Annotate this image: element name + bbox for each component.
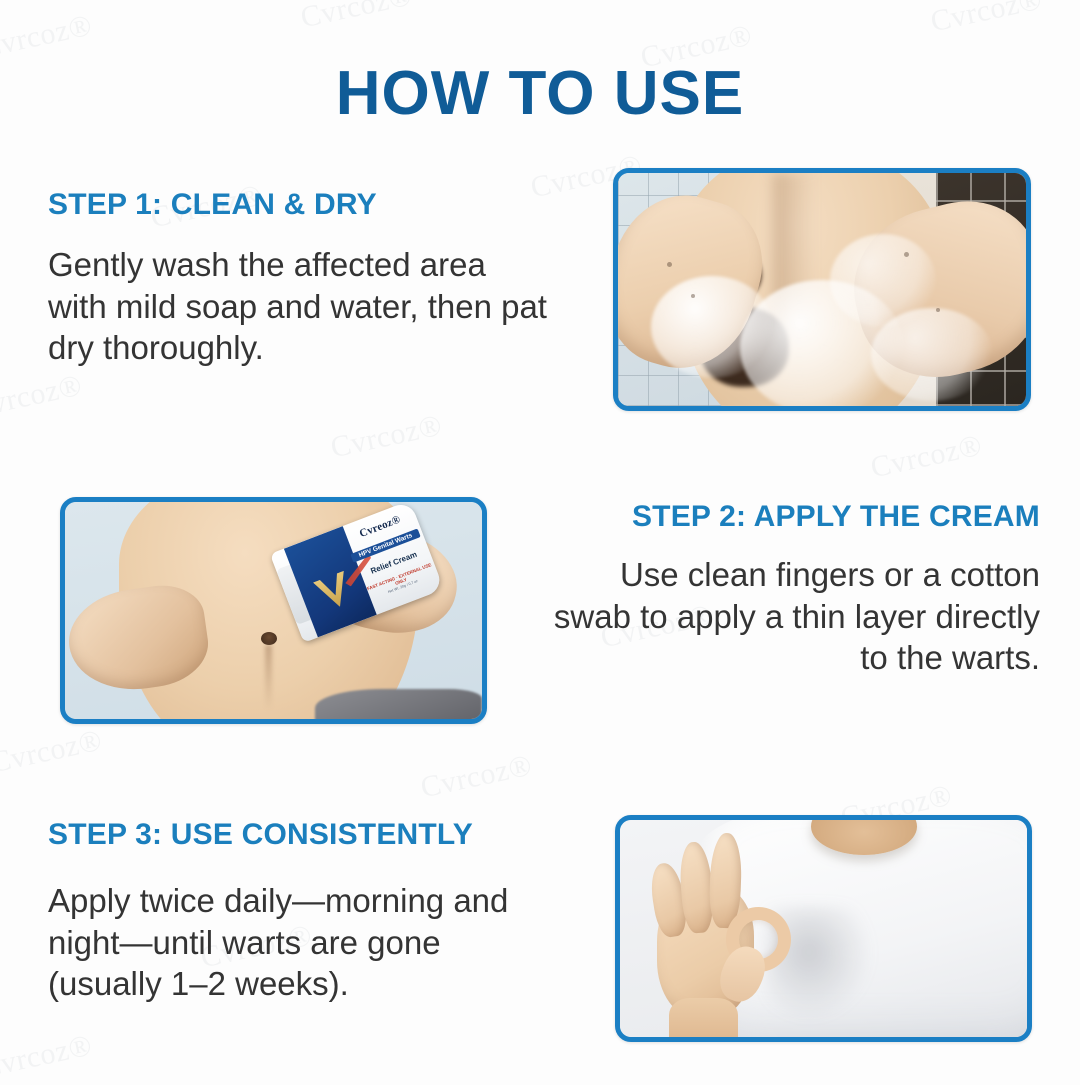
waistband: [315, 689, 482, 724]
step-2-body: Use clean fingers or a cotton swab to ap…: [540, 554, 1040, 679]
watermark: Cvrcoz®: [328, 409, 446, 466]
shower-washing-scene: [618, 173, 1026, 406]
step-2-image: Cvreoz® HPV Genital Warts Relief Cream F…: [60, 497, 487, 724]
watermark: Cvrcoz®: [298, 0, 416, 35]
step-1-heading: STEP 1: CLEAN & DRY: [48, 188, 548, 222]
step-3-text-block: STEP 3: USE CONSISTENTLY Apply twice dai…: [48, 818, 558, 1005]
wrist: [669, 998, 738, 1042]
watermark: Cvrcoz®: [0, 9, 95, 66]
step-3-heading: STEP 3: USE CONSISTENTLY: [48, 818, 558, 852]
step-1-text-block: STEP 1: CLEAN & DRY Gently wash the affe…: [48, 188, 548, 369]
step-1-body: Gently wash the affected area with mild …: [48, 244, 548, 369]
watermark: Cvrcoz®: [928, 0, 1046, 39]
step-2-heading: STEP 2: APPLY THE CREAM: [540, 500, 1040, 534]
abdomen-line: [265, 645, 272, 710]
soap-suds: [651, 276, 773, 379]
step-1-image: [613, 168, 1031, 411]
watermark: Cvrcoz®: [868, 429, 986, 486]
step-3-image: [615, 815, 1032, 1042]
watermark: Cvrcoz®: [0, 369, 85, 426]
lather-speck: [667, 262, 672, 267]
watermark: Cvrcoz®: [0, 1029, 95, 1085]
lather-speck: [904, 252, 909, 257]
applying-cream-scene: Cvreoz® HPV Genital Warts Relief Cream F…: [65, 502, 482, 719]
page-title: HOW TO USE: [0, 58, 1080, 129]
step-3-body: Apply twice daily—morning and night—unti…: [48, 880, 558, 1005]
watermark: Cvrcoz®: [0, 724, 105, 781]
step-2-text-block: STEP 2: APPLY THE CREAM Use clean finger…: [540, 500, 1040, 679]
watermark: Cvrcoz®: [418, 749, 536, 806]
soap-suds: [871, 308, 993, 401]
ok-gesture-scene: [620, 820, 1027, 1037]
